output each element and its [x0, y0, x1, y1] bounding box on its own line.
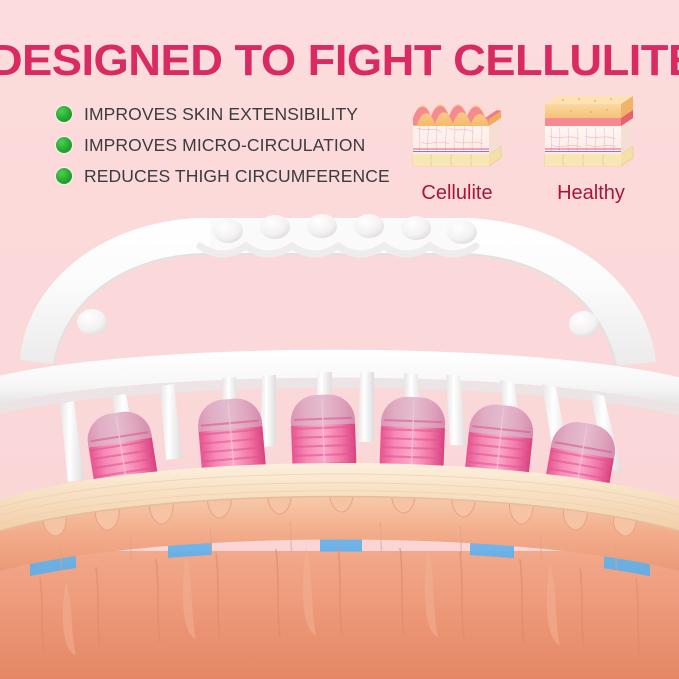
benefits-list: IMPROVES SKIN EXTENSIBILITY IMPROVES MIC…	[56, 100, 396, 193]
page-title: DESIGNED TO FIGHT CELLULITE	[0, 36, 679, 86]
benefit-label: IMPROVES MICRO-CIRCULATION	[84, 135, 365, 156]
list-item: IMPROVES MICRO-CIRCULATION	[56, 131, 396, 159]
list-item: REDUCES THIGH CIRCUMFERENCE	[56, 162, 396, 190]
bullet-dot-icon	[56, 106, 72, 122]
device-handle	[20, 214, 656, 366]
benefit-label: IMPROVES SKIN EXTENSIBILITY	[84, 104, 358, 125]
list-item: IMPROVES SKIN EXTENSIBILITY	[56, 100, 396, 128]
skin-tissue-cross-section	[0, 455, 679, 679]
healthy-skin-cross-section	[541, 92, 637, 178]
benefit-label: REDUCES THIGH CIRCUMFERENCE	[84, 166, 390, 187]
cellulite-skin-cross-section	[409, 92, 505, 178]
bullet-dot-icon	[56, 137, 72, 153]
infographic-canvas: DESIGNED TO FIGHT CELLULITE IMPROVES SKI…	[0, 0, 679, 679]
bullet-dot-icon	[56, 168, 72, 184]
